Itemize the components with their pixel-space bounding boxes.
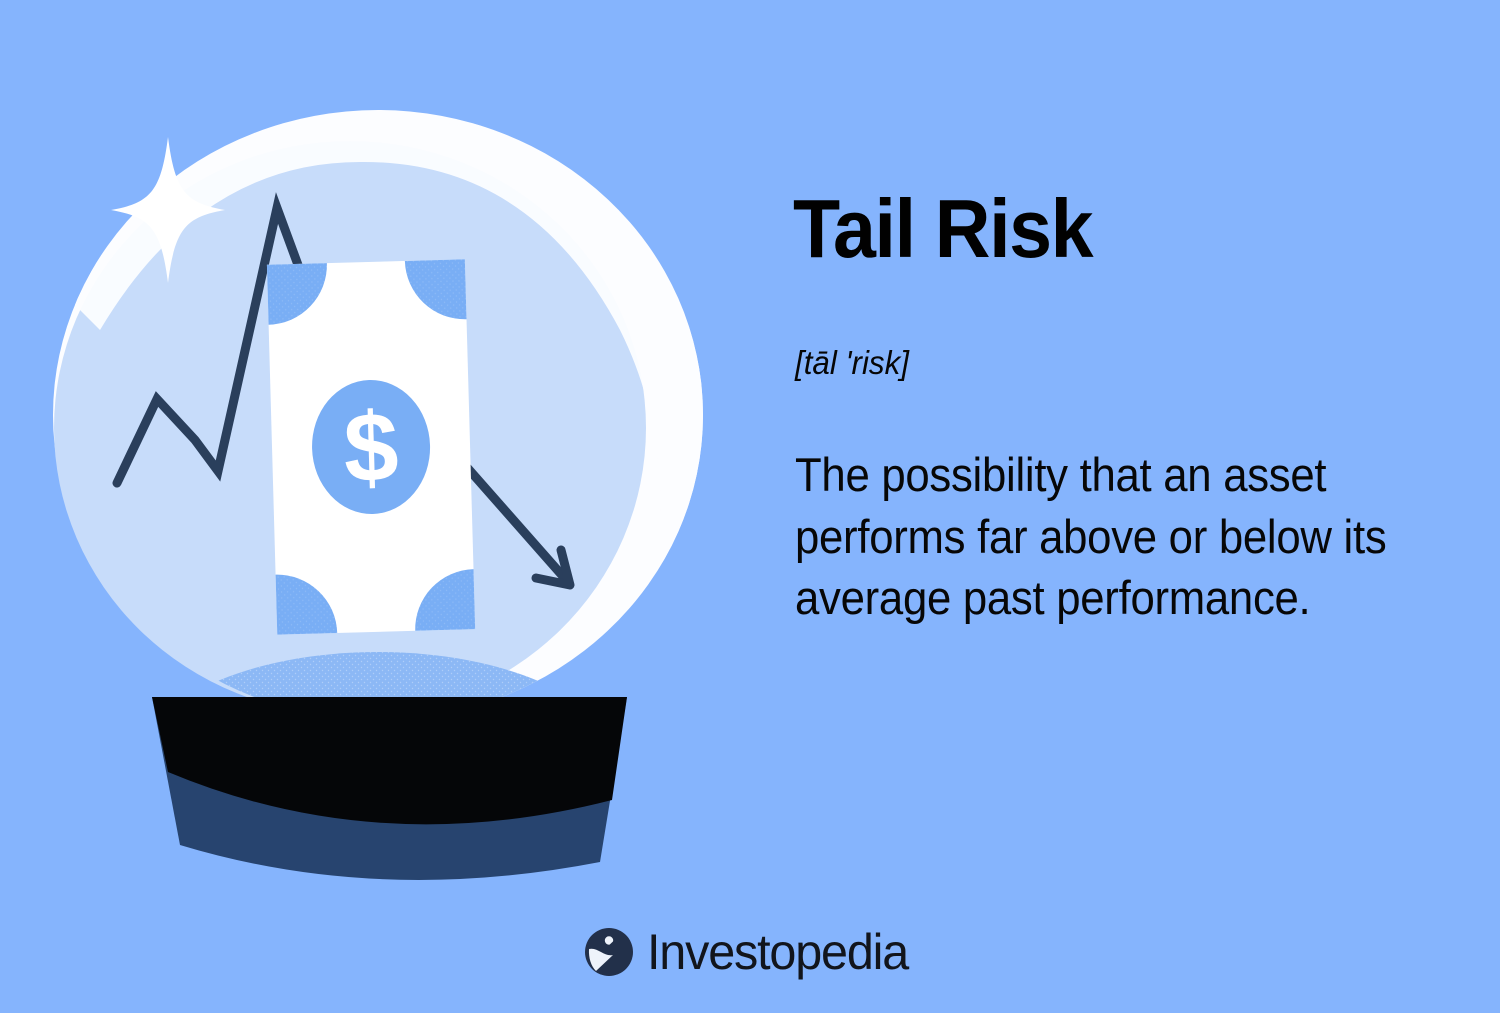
page-title: Tail Risk [793, 190, 1388, 269]
infographic-canvas: $ Tail Risk [tāl 'risk] The possibility … [0, 0, 1500, 1013]
investopedia-swoosh-icon [584, 927, 634, 977]
globe-base [152, 697, 627, 880]
brand-footer: Investopedia [0, 927, 1500, 977]
banknote: $ [267, 259, 475, 634]
pronunciation-text: [tāl 'risk] [795, 344, 909, 382]
brand-wordmark: Investopedia [647, 927, 908, 977]
definition-body-text: The possibility that an asset performs f… [795, 444, 1390, 629]
dollar-sign-glyph: $ [342, 391, 400, 502]
snow-globe-illustration: $ [0, 0, 760, 920]
definition-text-column: Tail Risk [tāl 'risk] The possibility th… [793, 190, 1433, 269]
